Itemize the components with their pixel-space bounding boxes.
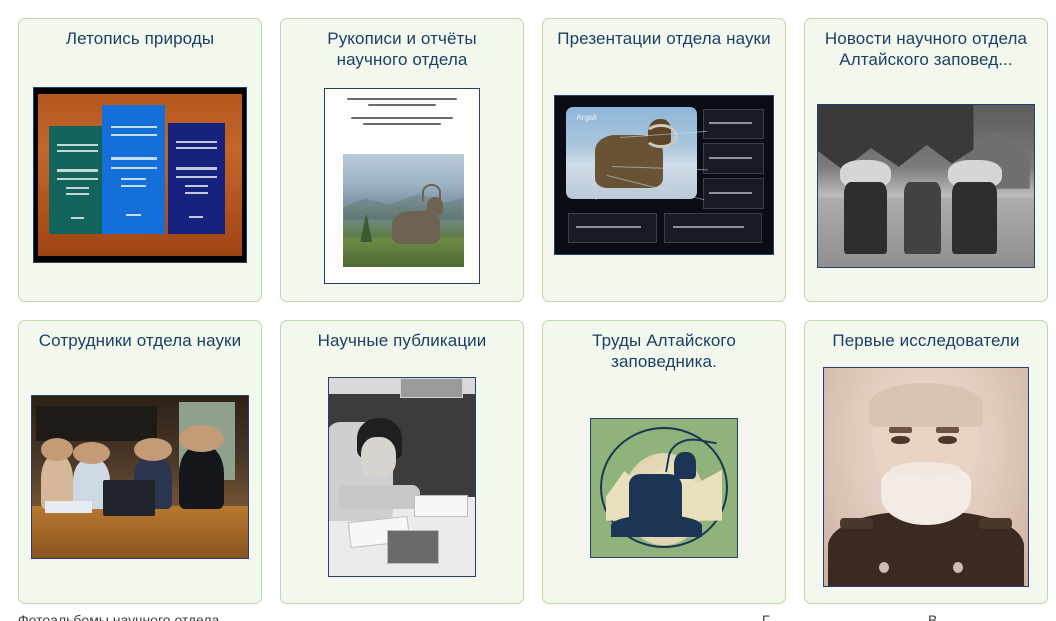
pack-horse: [844, 182, 887, 253]
book-volume-blue: [102, 105, 166, 234]
card-thumbnail-wrap: [19, 351, 261, 603]
paper-sheet: [387, 530, 439, 564]
card-thumbnail-wrap: [805, 70, 1047, 301]
gallery-card-presentations[interactable]: Презентации отдела науки Argali: [542, 18, 786, 302]
person-figure: [179, 445, 224, 510]
first-researcher-portrait[interactable]: [823, 367, 1029, 587]
card-thumbnail-wrap: [543, 372, 785, 603]
eye: [891, 436, 909, 445]
moustache: [891, 462, 960, 477]
epaulette: [979, 518, 1012, 529]
paper-sheet: [414, 495, 469, 517]
card-thumbnail-wrap: [281, 70, 523, 301]
laptop: [103, 480, 155, 516]
researcher-at-desk-photo[interactable]: [328, 377, 476, 577]
gallery-card-first-researchers[interactable]: Первые исследователи: [804, 320, 1048, 604]
gallery-card-science-staff[interactable]: Сотрудники отдела науки: [18, 320, 262, 604]
eye: [938, 436, 956, 445]
gallery-page: Летопись природы: [0, 0, 1056, 621]
slide-callout-box: [664, 213, 762, 243]
three-chronicle-volumes-photo[interactable]: [33, 87, 247, 263]
deer-silhouette: [629, 474, 682, 521]
gallery-card-science-department-news[interactable]: Новости научного отдела Алтайского запов…: [804, 18, 1048, 302]
card-title: Рукописи и отчёты научного отдела: [288, 28, 516, 70]
bottom-right-text: В: [928, 612, 937, 621]
argali-presentation-slide[interactable]: Argali: [554, 95, 774, 255]
historical-pack-horses-photo[interactable]: [817, 104, 1035, 268]
card-title: Презентации отдела науки: [550, 28, 778, 49]
bottom-middle-text: Г: [762, 612, 770, 621]
eyebrow: [936, 427, 958, 434]
card-title: Научные публикации: [288, 330, 516, 351]
shelf: [36, 406, 157, 442]
card-title: Сотрудники отдела науки: [26, 330, 254, 351]
book-volume-darkblue: [168, 123, 225, 234]
argali-photo: Argali: [566, 107, 697, 199]
arm: [338, 485, 420, 509]
epaulette: [840, 518, 873, 529]
slide-callout-box: [703, 109, 764, 139]
card-thumbnail-wrap: Argali: [543, 49, 785, 301]
reserve-deer-emblem[interactable]: [590, 418, 738, 558]
card-title: Новости научного отдела Алтайского запов…: [812, 28, 1040, 70]
gallery-card-scientific-publications[interactable]: Научные публикации: [280, 320, 524, 604]
book-volume-green: [49, 126, 106, 234]
slide-photo-label: Argali: [576, 113, 596, 122]
hair: [869, 383, 983, 427]
gallery-card-proceedings[interactable]: Труды Алтайского заповедника.: [542, 320, 786, 604]
uniform-button: [953, 562, 963, 573]
card-title: Летопись природы: [26, 28, 254, 49]
wall-picture-frame: [400, 378, 463, 398]
eyebrow: [889, 427, 911, 434]
card-thumbnail-wrap: [805, 351, 1047, 603]
papers-on-table: [45, 501, 93, 512]
cover-header-lines: [347, 98, 458, 129]
pack-horse: [952, 182, 997, 253]
card-thumbnail-wrap: [281, 351, 523, 603]
reindeer-photo: [343, 154, 463, 267]
slide-callout-box: [568, 213, 657, 243]
slide-callout-box: [703, 178, 764, 208]
card-grid: Летопись природы: [0, 0, 1056, 604]
person-figure: [904, 182, 941, 253]
gallery-card-chronicle-of-nature[interactable]: Летопись природы: [18, 18, 262, 302]
bottom-left-text: Фотоальбомы научного отдела: [18, 612, 219, 621]
reindeer-silhouette: [392, 211, 440, 245]
report-cover-with-reindeer-photo[interactable]: [324, 88, 480, 284]
slide-callout-box: [703, 143, 764, 173]
card-title: Первые исследователи: [812, 330, 1040, 351]
card-title: Труды Алтайского заповедника.: [550, 330, 778, 372]
staff-meeting-photo[interactable]: [31, 395, 249, 559]
bottom-cut-off-text-row: Фотоальбомы научного отдела Г В: [0, 612, 1056, 621]
card-thumbnail-wrap: [19, 49, 261, 301]
gallery-card-manuscripts-and-reports[interactable]: Рукописи и отчёты научного отдела: [280, 18, 524, 302]
